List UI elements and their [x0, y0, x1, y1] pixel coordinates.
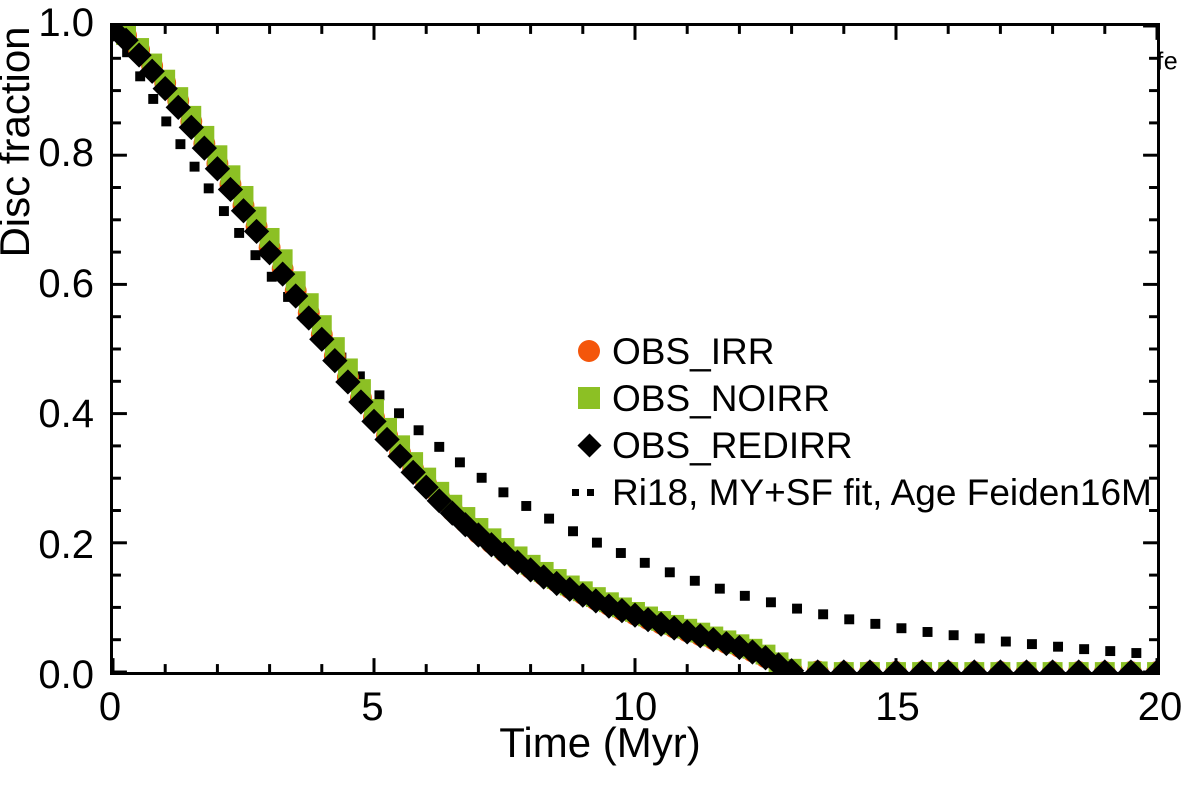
y-tick-label: 0.6 — [0, 264, 94, 304]
y-tick-label: 0.2 — [0, 525, 94, 565]
legend-marker-circle-icon — [566, 340, 612, 362]
chart-legend: OBS_IRR OBS_NOIRR OBS_REDIRR Ri18, MY+SF… — [566, 330, 1152, 518]
legend-item: OBS_IRR — [566, 330, 1152, 372]
legend-marker-square-icon — [566, 387, 612, 409]
x-tick-label: 20 — [1138, 687, 1183, 727]
legend-marker-diamond-icon — [566, 437, 612, 454]
legend-item: Ri18, MY+SF fit, Age Feiden16M — [566, 471, 1152, 513]
legend-marker-dotted-line-icon — [566, 489, 612, 496]
y-tick-label: 0.8 — [0, 133, 94, 173]
x-tick-label: 15 — [875, 687, 920, 727]
y-tick-label: 0.0 — [0, 655, 94, 695]
legend-item: OBS_REDIRR — [566, 424, 1152, 466]
legend-label: Ri18, MY+SF fit, Age Feiden16M — [612, 474, 1152, 511]
y-tick-label: 0.4 — [0, 394, 94, 434]
x-tick-label: 0 — [99, 687, 121, 727]
x-tick-label: 5 — [361, 687, 383, 727]
legend-item: OBS_NOIRR — [566, 377, 1152, 419]
legend-label: OBS_REDIRR — [612, 427, 853, 464]
legend-label: OBS_NOIRR — [612, 380, 830, 417]
x-axis-title: Time (Myr) — [0, 722, 1200, 764]
chart-figure: Disc fraction Time (Myr) tlife 0.00.20.4… — [0, 0, 1200, 787]
y-tick-label: 1.0 — [0, 3, 94, 43]
x-tick-label: 10 — [613, 687, 658, 727]
legend-label: OBS_IRR — [612, 333, 774, 370]
